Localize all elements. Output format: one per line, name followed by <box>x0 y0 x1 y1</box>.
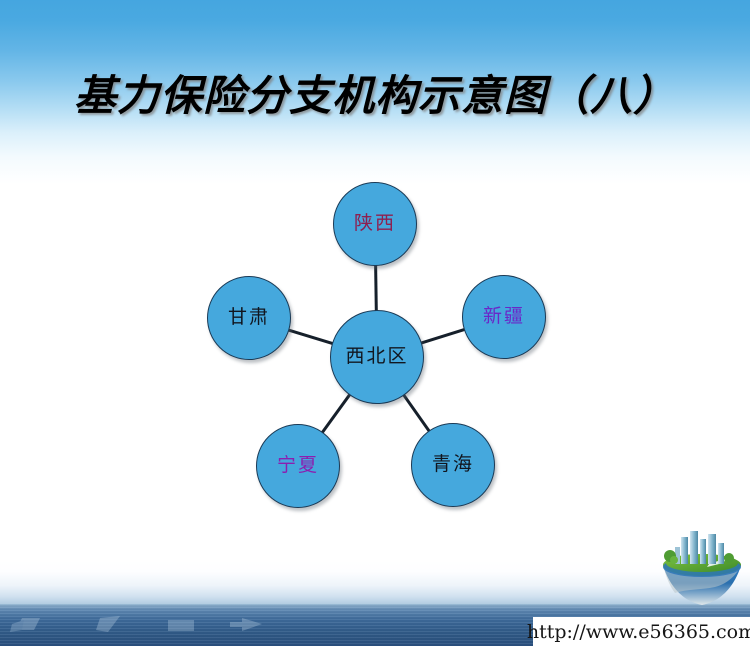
org-chart-diagram: 西北区陕西甘肃新疆宁夏青海 <box>0 0 750 646</box>
node-label-xinjiang: 新疆 <box>483 307 525 326</box>
edge-center-to-xinjiang <box>420 329 466 343</box>
branch-node-gansu[interactable]: 甘肃 <box>207 276 291 360</box>
edge-center-to-gansu <box>287 330 334 344</box>
slide-canvas: 基力保险分支机构示意图（八） 西北区陕西甘肃新疆宁夏青海 <box>0 0 750 646</box>
center-node-center[interactable]: 西北区 <box>330 310 424 404</box>
branch-node-xinjiang[interactable]: 新疆 <box>462 275 546 359</box>
website-url-bar[interactable]: http://www.e56365.com <box>533 617 750 646</box>
branch-node-shaanxi[interactable]: 陕西 <box>333 182 417 266</box>
branch-node-ningxia[interactable]: 宁夏 <box>256 424 340 508</box>
node-label-gansu: 甘肃 <box>228 308 270 327</box>
globe-city-logo <box>657 527 747 609</box>
node-label-ningxia: 宁夏 <box>277 456 319 475</box>
node-label-center: 西北区 <box>345 347 408 366</box>
edge-center-to-shaanxi <box>376 264 377 312</box>
node-label-shaanxi: 陕西 <box>354 214 396 233</box>
website-url-text: http://www.e56365.com <box>527 621 750 643</box>
node-label-qinghai: 青海 <box>432 455 474 474</box>
branch-node-qinghai[interactable]: 青海 <box>411 423 495 507</box>
edge-center-to-qinghai <box>403 394 430 432</box>
edge-center-to-ningxia <box>321 393 350 433</box>
